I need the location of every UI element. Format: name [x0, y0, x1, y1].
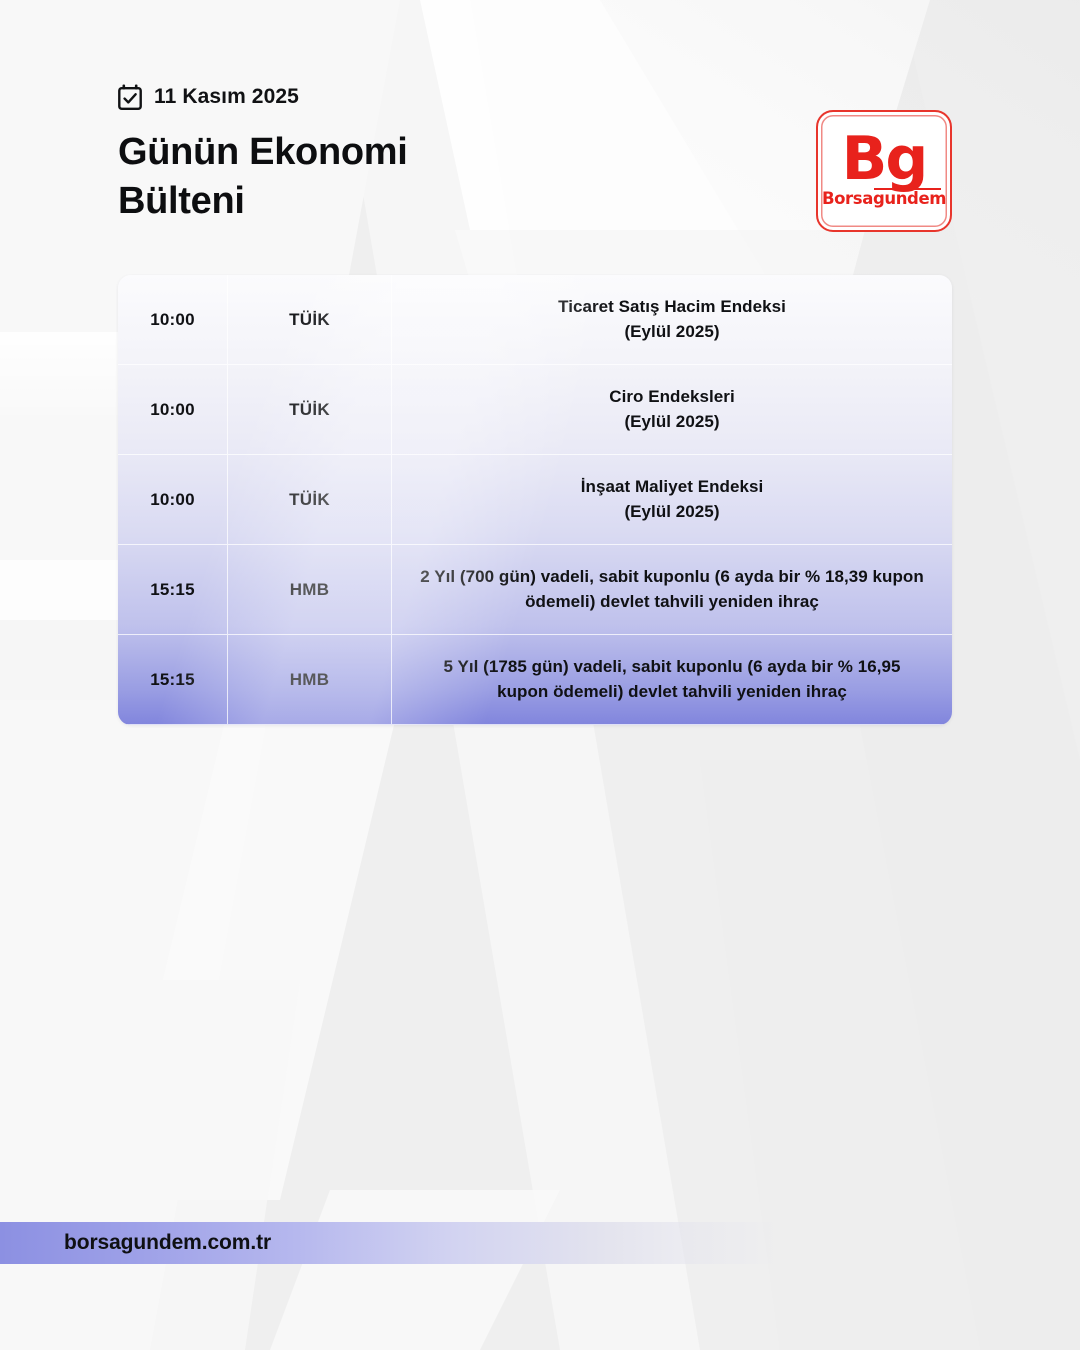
date-row: 11 Kasım 2025: [118, 84, 299, 110]
row-description-line2: ödemeli) devlet tahvili yeniden ihraç: [420, 590, 924, 615]
row-time: 15:15: [118, 545, 228, 634]
row-time: 10:00: [118, 275, 228, 364]
row-description-line2: (Eylül 2025): [609, 410, 734, 435]
economic-calendar-table: 10:00 TÜİK Ticaret Satış Hacim Endeksi(E…: [118, 275, 952, 725]
table-row[interactable]: 15:15 HMB 5 Yıl (1785 gün) vadeli, sabit…: [118, 635, 952, 725]
logo-wordmark: Borsagundem: [822, 189, 946, 208]
row-time: 10:00: [118, 455, 228, 544]
row-time: 10:00: [118, 365, 228, 454]
row-description-line2: (Eylül 2025): [581, 500, 764, 525]
row-description-line2: kupon ödemeli) devlet tahvili yeniden ih…: [443, 680, 900, 705]
brand-logo[interactable]: Bg Borsagundem: [816, 110, 952, 232]
row-description-line1: Ticaret Satış Hacim Endeksi: [558, 295, 786, 320]
row-time: 15:15: [118, 635, 228, 724]
logo-mark: Bg: [842, 132, 927, 187]
row-source: TÜİK: [228, 275, 392, 364]
bulletin-date: 11 Kasım 2025: [154, 85, 299, 109]
footer-bar: borsagundem.com.tr: [0, 1222, 782, 1264]
page-header: 11 Kasım 2025 Günün Ekonomi Bülteni Bg B…: [0, 0, 1080, 270]
row-description-line1: Ciro Endeksleri: [609, 385, 734, 410]
row-description: 5 Yıl (1785 gün) vadeli, sabit kuponlu (…: [392, 635, 952, 724]
table-row[interactable]: 10:00 TÜİK İnşaat Maliyet Endeksi(Eylül …: [118, 455, 952, 545]
table-row[interactable]: 10:00 TÜİK Ticaret Satış Hacim Endeksi(E…: [118, 275, 952, 365]
row-source: HMB: [228, 545, 392, 634]
site-url[interactable]: borsagundem.com.tr: [64, 1231, 271, 1255]
table-row[interactable]: 15:15 HMB 2 Yıl (700 gün) vadeli, sabit …: [118, 545, 952, 635]
row-description: Ciro Endeksleri(Eylül 2025): [392, 365, 952, 454]
row-description-line1: İnşaat Maliyet Endeksi: [581, 475, 764, 500]
row-source: TÜİK: [228, 365, 392, 454]
table-row[interactable]: 10:00 TÜİK Ciro Endeksleri(Eylül 2025): [118, 365, 952, 455]
row-description-line1: 2 Yıl (700 gün) vadeli, sabit kuponlu (6…: [420, 565, 924, 590]
row-description-line1: 5 Yıl (1785 gün) vadeli, sabit kuponlu (…: [443, 655, 900, 680]
row-source: HMB: [228, 635, 392, 724]
row-description: Ticaret Satış Hacim Endeksi(Eylül 2025): [392, 275, 952, 364]
calendar-check-icon: [118, 84, 142, 110]
row-source: TÜİK: [228, 455, 392, 544]
row-description: İnşaat Maliyet Endeksi(Eylül 2025): [392, 455, 952, 544]
row-description: 2 Yıl (700 gün) vadeli, sabit kuponlu (6…: [392, 545, 952, 634]
row-description-line2: (Eylül 2025): [558, 320, 786, 345]
page-title: Günün Ekonomi Bülteni: [118, 128, 408, 225]
